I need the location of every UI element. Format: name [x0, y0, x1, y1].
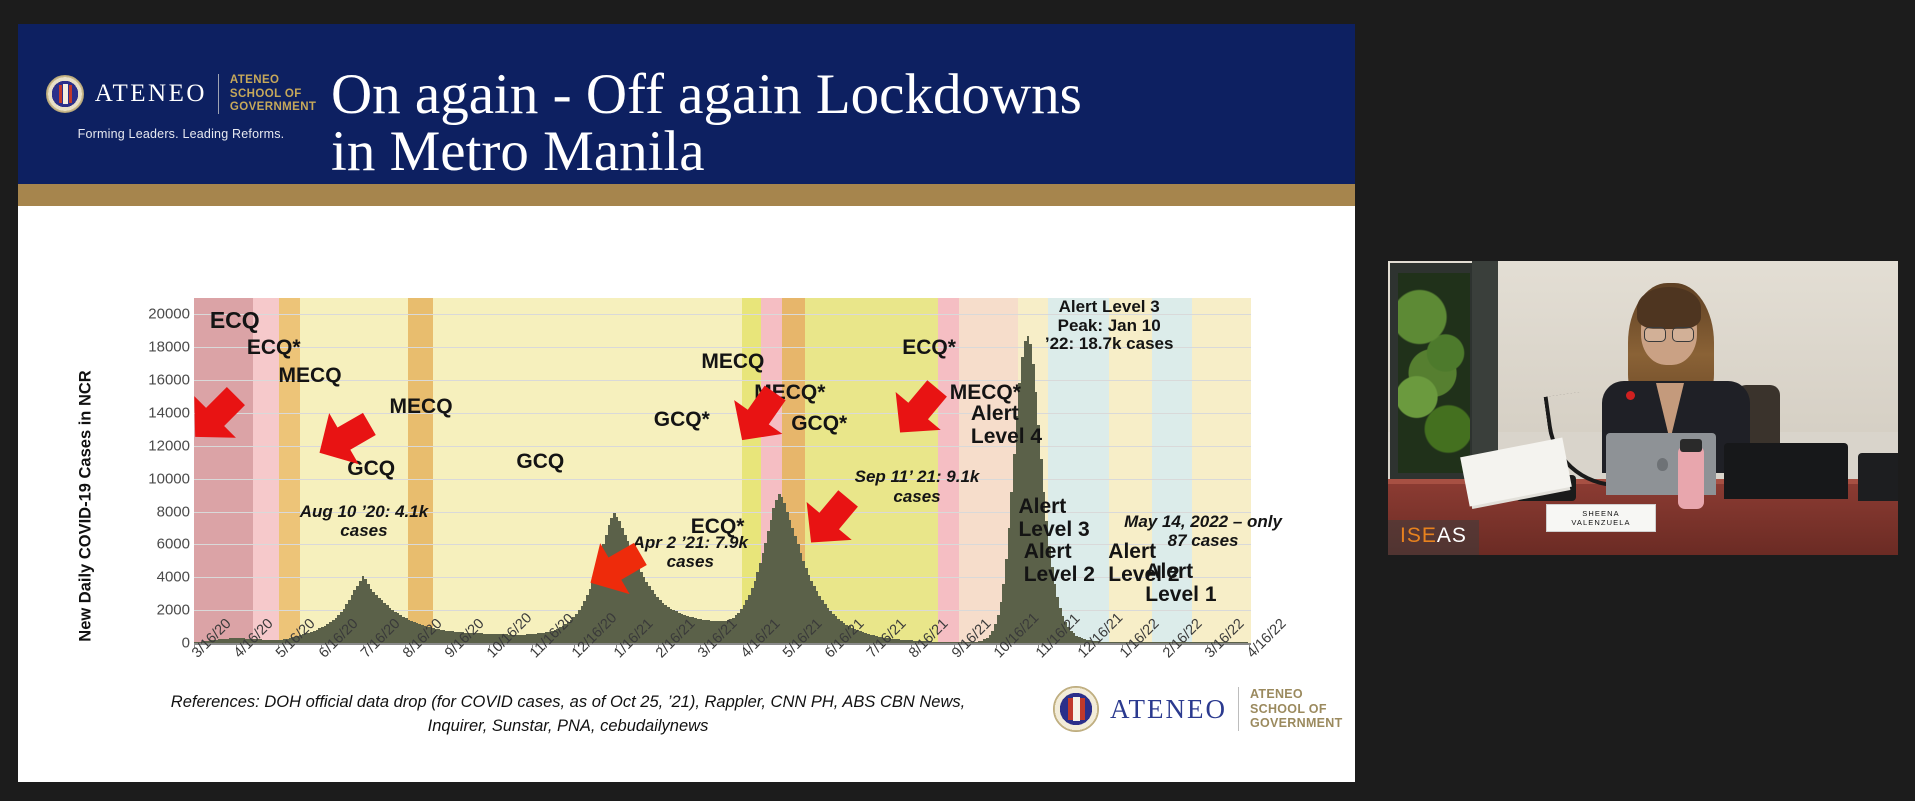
y-tick-label: 2000	[100, 602, 190, 619]
brand-tagline: Forming Leaders. Leading Reforms.	[78, 127, 285, 141]
iseas-watermark-orange: ISE	[1400, 524, 1437, 547]
phase-label: MECQ	[701, 350, 764, 373]
presentation-slide: ATENEO ATENEO SCHOOL OF GOVERNMENT Formi…	[18, 24, 1355, 782]
eyeglasses-icon	[1644, 327, 1694, 340]
brand-subtitle: ATENEO SCHOOL OF GOVERNMENT	[230, 74, 316, 115]
screen: ATENEO ATENEO SCHOOL OF GOVERNMENT Formi…	[0, 0, 1915, 801]
references: References: DOH official data drop (for …	[168, 691, 968, 739]
water-bottle	[1678, 447, 1704, 509]
phase-label: Alert Level 1	[1145, 560, 1216, 606]
speaker-hair-front	[1637, 287, 1701, 329]
brand-sub-line-2: SCHOOL OF	[230, 88, 316, 102]
speaker-video-panel[interactable]: SHEENA VALENZUELA ISEAS	[1388, 261, 1898, 555]
ateneo-logo: ATENEO ATENEO SCHOOL OF GOVERNMENT Formi…	[46, 74, 316, 141]
video-frame: SHEENA VALENZUELA	[1388, 261, 1898, 555]
pillar	[1472, 261, 1498, 479]
ateneo-seal-icon	[46, 75, 84, 113]
laptop-black	[1724, 443, 1848, 499]
footer-logo-divider	[1238, 687, 1239, 731]
footer-sub-line-3: GOVERNMENT	[1250, 716, 1343, 731]
phase-label: ECQ*	[247, 336, 301, 359]
slide-title: On again - Off again Lockdowns in Metro …	[331, 66, 1311, 180]
phase-label: GCQ	[516, 450, 564, 473]
phase-label: Alert Level 2	[1024, 540, 1095, 586]
phase-label: MECQ	[279, 364, 342, 387]
y-tick-label: 20000	[100, 306, 190, 323]
footer-sub-line-2: SCHOOL OF	[1250, 702, 1343, 717]
y-tick-label: 18000	[100, 339, 190, 356]
y-tick-label: 10000	[100, 470, 190, 487]
logo-divider	[218, 74, 219, 114]
footer-brand-name: ATENEO	[1110, 694, 1227, 725]
gold-divider-bar	[18, 184, 1355, 206]
slide-title-line-2: in Metro Manila	[331, 123, 1311, 180]
phase-label: Alert Level 4	[971, 402, 1042, 448]
phase-label: MECQ	[390, 395, 453, 418]
nameplate-line-2: VALENZUELA	[1571, 518, 1630, 527]
peak-annotation: May 14, 2022 – only 87 cases	[1124, 512, 1282, 551]
footer-ateneo-logo: ATENEO ATENEO SCHOOL OF GOVERNMENT	[1053, 686, 1343, 732]
phase-label: MECQ*	[950, 381, 1021, 404]
peak-annotation: Sep 11’ 21: 9.1k cases	[855, 467, 980, 506]
y-tick-label: 4000	[100, 569, 190, 586]
slide-title-line-1: On again - Off again Lockdowns	[331, 66, 1311, 123]
footer-seal-icon	[1053, 686, 1099, 732]
phase-label: GCQ*	[654, 408, 710, 431]
y-axis-label: New Daily COVID-19 Cases in NCR	[77, 370, 96, 641]
phase-label: ECQ	[210, 308, 260, 333]
footer-brand-subtitle: ATENEO SCHOOL OF GOVERNMENT	[1250, 687, 1343, 731]
y-tick-label: 6000	[100, 536, 190, 553]
y-tick-label: 16000	[100, 372, 190, 389]
phase-label: ECQ*	[902, 336, 956, 359]
laptop-third	[1858, 453, 1898, 501]
y-tick-label: 12000	[100, 437, 190, 454]
iseas-watermark-white: AS	[1437, 524, 1467, 547]
phase-label: GCQ*	[791, 412, 847, 435]
water-bottle-cap	[1680, 439, 1702, 452]
iseas-watermark: ISEAS	[1388, 520, 1479, 555]
phase-label: Alert Level 3	[1018, 495, 1089, 541]
phase-label: Alert Level 3 Peak: Jan 10 ’22: 18.7k ca…	[1045, 298, 1174, 354]
nameplate-line-1: SHEENA	[1582, 509, 1619, 518]
y-tick-label: 8000	[100, 503, 190, 520]
microphone-tip	[1626, 391, 1635, 400]
foliage	[1398, 273, 1470, 473]
y-tick-label: 0	[100, 635, 190, 652]
brand-sub-line-3: GOVERNMENT	[230, 101, 316, 115]
peak-annotation: Aug 10 ’20: 4.1k cases	[300, 502, 429, 541]
nameplate: SHEENA VALENZUELA	[1546, 504, 1656, 532]
references-line-2: Inquirer, Sunstar, PNA, cebudailynews	[168, 715, 968, 739]
footer-sub-line-1: ATENEO	[1250, 687, 1343, 702]
brand-sub-line-1: ATENEO	[230, 74, 316, 88]
covid-chart: New Daily COVID-19 Cases in NCR 02000400…	[18, 206, 1355, 782]
brand-name: ATENEO	[95, 80, 207, 108]
references-line-1: References: DOH official data drop (for …	[168, 691, 968, 715]
